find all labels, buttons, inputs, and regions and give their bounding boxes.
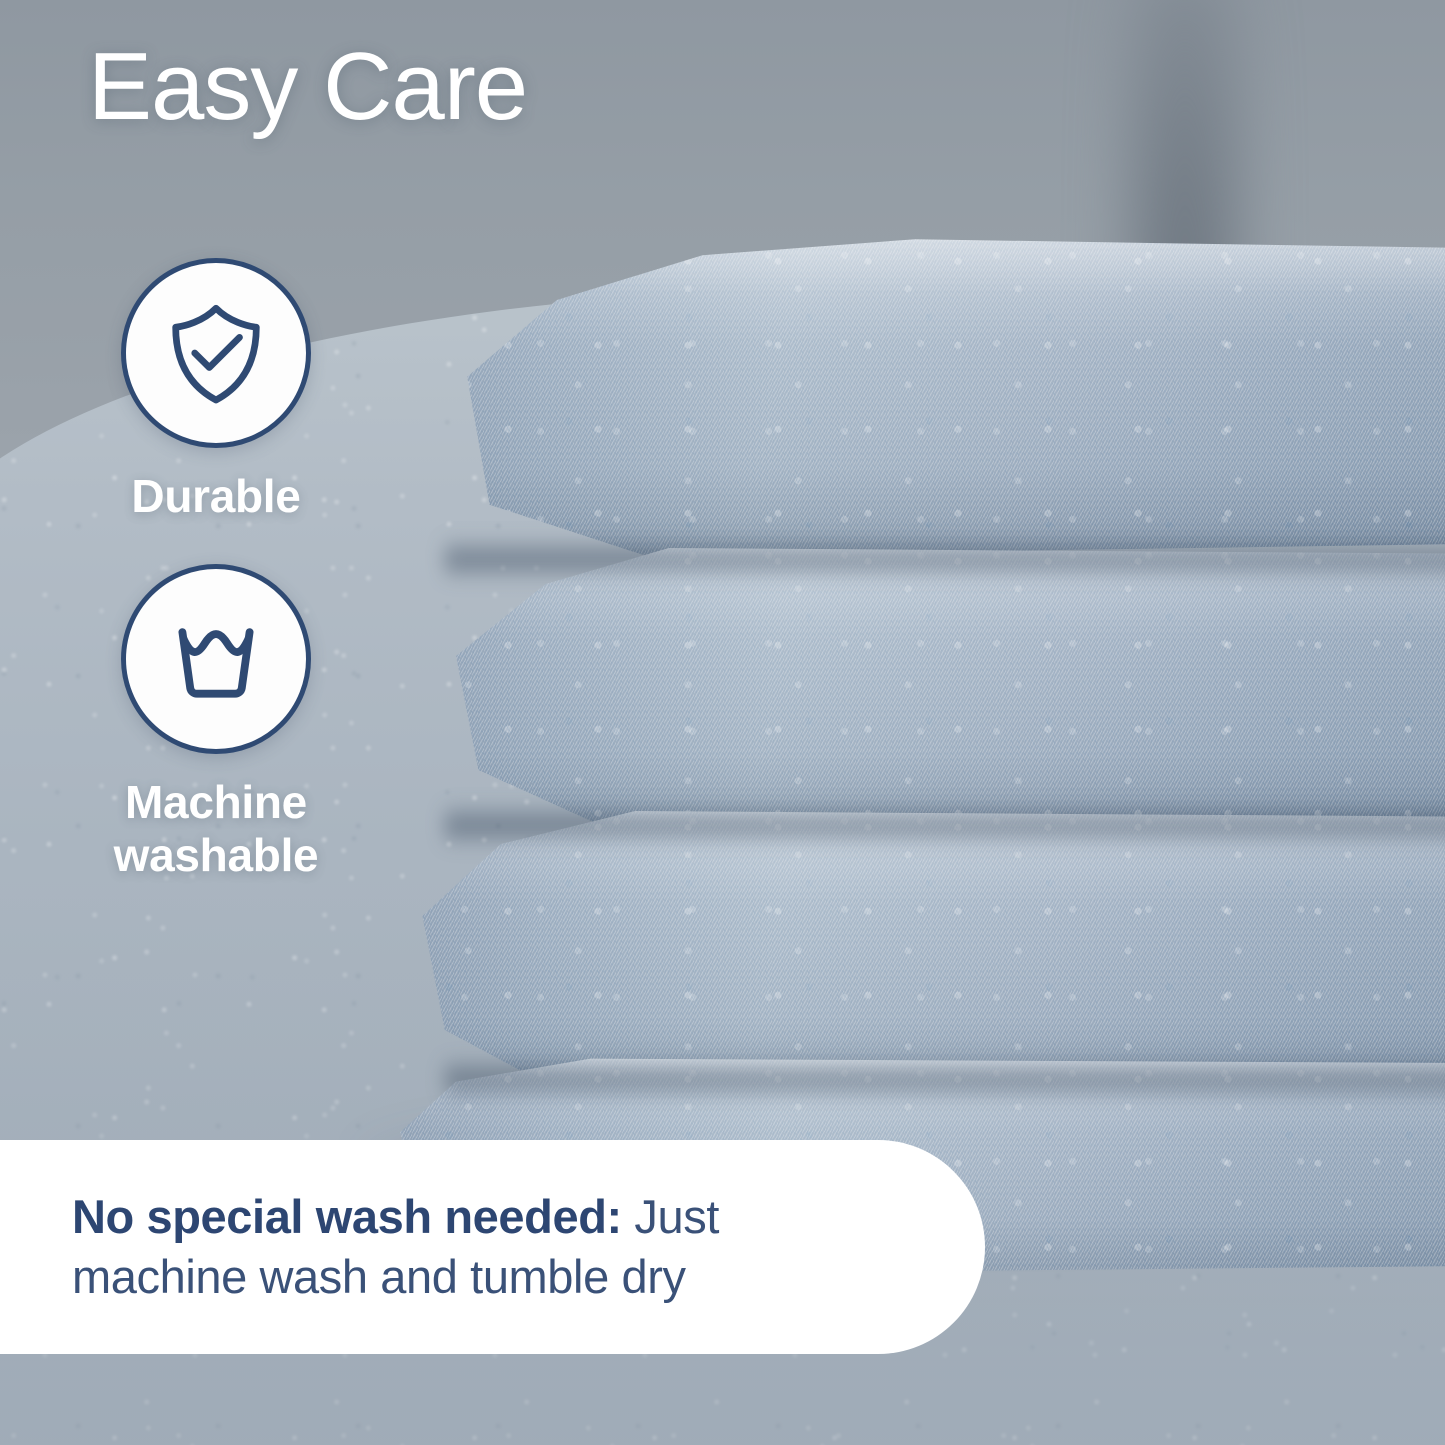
folded-fabric-stack (400, 236, 1445, 1236)
page-title: Easy Care (88, 36, 527, 138)
fabric-crease (445, 536, 1445, 582)
caption-text: No special wash needed: Just machine was… (72, 1187, 889, 1307)
wash-tub-icon (160, 603, 272, 715)
fabric-crease (445, 802, 1445, 848)
feature-label-durable: Durable (131, 470, 300, 522)
feature-label-line-1: Machine (125, 776, 307, 828)
machine-washable-badge (121, 564, 311, 754)
durable-badge (121, 258, 311, 448)
feature-item-durable: Durable (60, 258, 372, 522)
shield-check-icon (160, 297, 272, 409)
caption-banner: No special wash needed: Just machine was… (0, 1140, 985, 1354)
fabric-crease (445, 1056, 1445, 1102)
feature-list: Durable Machine washable (60, 258, 372, 923)
feature-item-machine-washable: Machine washable (60, 564, 372, 881)
caption-strong-text: No special wash needed: (72, 1190, 622, 1243)
feature-label-line-2: washable (114, 829, 319, 881)
product-feature-image: Easy Care Durable (0, 0, 1445, 1445)
feature-label-machine-washable: Machine washable (114, 776, 319, 881)
fabric-fold (400, 236, 1445, 556)
